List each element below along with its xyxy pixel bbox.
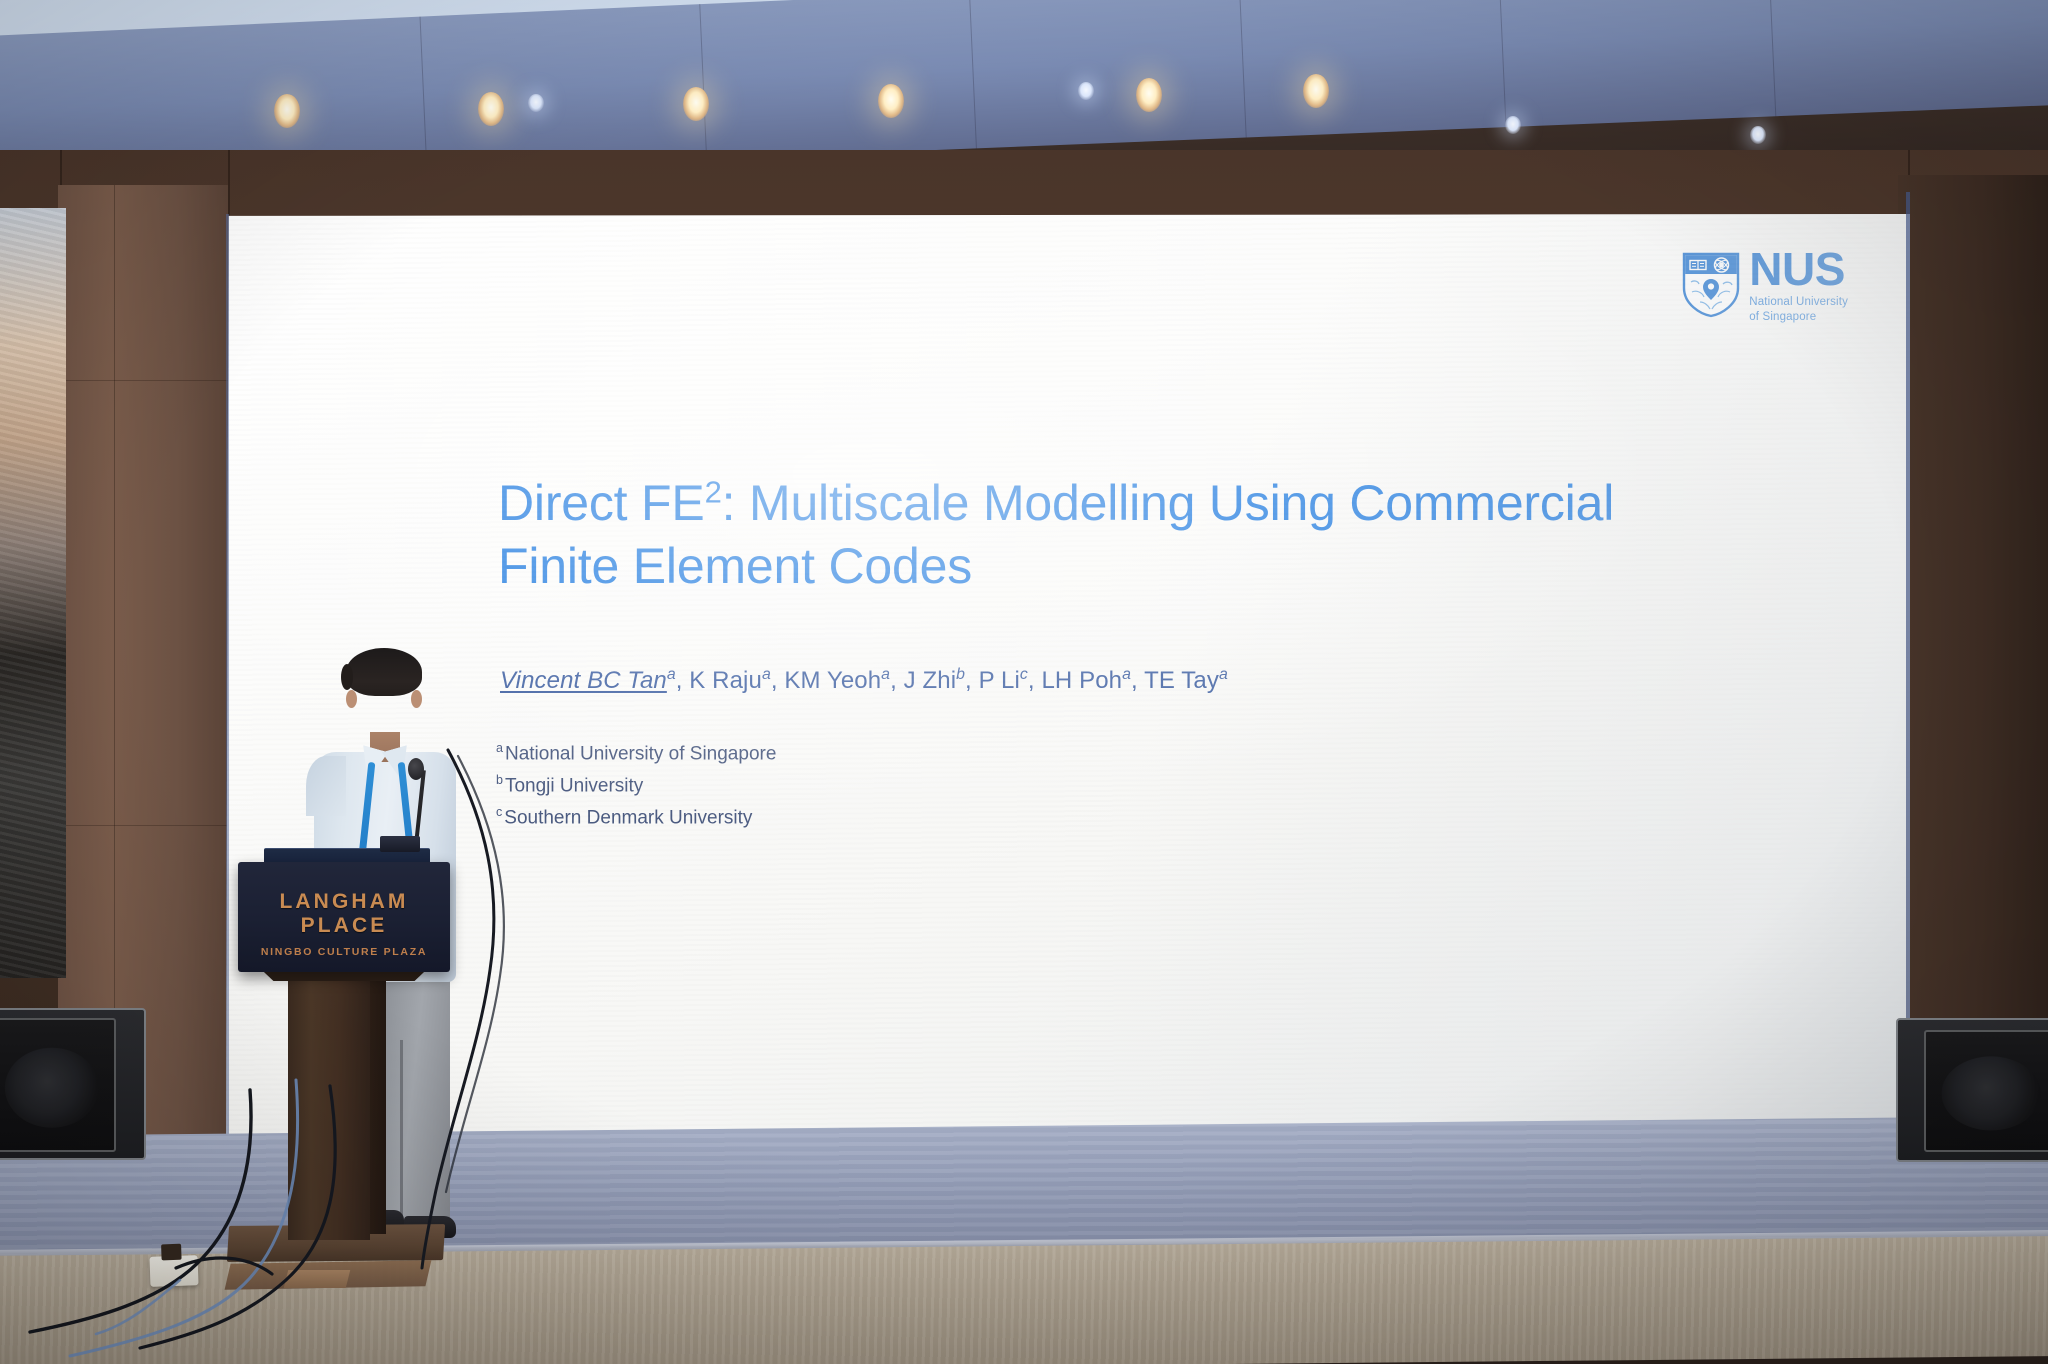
ceiling-downlight — [1078, 82, 1094, 100]
podium-cable-right — [400, 750, 660, 1270]
author-affiliation-marker: b — [956, 666, 965, 683]
ceiling-downlight — [683, 87, 709, 121]
left-wall-artwork — [0, 208, 66, 978]
nus-wordmark-text: NUS — [1749, 246, 1848, 292]
author-lead: Vincent BC Tan — [500, 667, 667, 694]
slide-author-list: Vincent BC Tana, K Rajua, KM Yeoha, J Zh… — [500, 666, 1228, 695]
presenter-hair — [346, 648, 422, 696]
ceiling-downlight — [1136, 78, 1162, 112]
ceiling-downlight — [528, 94, 544, 112]
slide-title-line1-prefix: Direct FE — [498, 475, 705, 531]
author-affiliation-marker: a — [762, 666, 771, 683]
screen-left-edge — [226, 214, 229, 1144]
nus-logo: NUS National University of Singapore — [1682, 246, 1848, 324]
author-lead-sup: a — [667, 666, 676, 683]
author-affiliation-marker: a — [1122, 666, 1131, 683]
ceiling-downlight — [478, 92, 504, 126]
slide-title-superscript: 2 — [705, 474, 722, 509]
author-affiliation-marker: c — [1020, 666, 1028, 683]
presentation-scene-photo: NUS National University of Singapore Dir… — [0, 0, 2048, 1364]
speaker-cone — [1942, 1057, 2041, 1130]
author-affiliation-marker: a — [1219, 666, 1228, 683]
nus-tagline-line2: of Singapore — [1749, 311, 1816, 323]
nus-wordmark: NUS National University of Singapore — [1749, 246, 1848, 324]
screen-right-edge — [1906, 192, 1910, 1146]
pa-speaker-cabinet-right — [1924, 1030, 2048, 1152]
nus-crest-icon — [1682, 252, 1740, 318]
nus-tagline-line1: National University — [1749, 296, 1848, 308]
ceiling-downlight — [878, 84, 904, 118]
slide-title-line2: Finite Element Codes — [498, 538, 972, 594]
nus-tagline: National University of Singapore — [1749, 295, 1848, 324]
author-rest: , K Rajua, KM Yeoha, J Zhib, P Lic, LH P… — [676, 667, 1228, 694]
right-wall-pillar — [1898, 175, 2048, 1165]
ceiling-downlight — [1505, 116, 1521, 134]
slide-title-line1-suffix: : Multiscale Modelling Using Commercial — [722, 475, 1615, 531]
ceiling-downlight — [1303, 74, 1329, 108]
slide-title: Direct FE2: Multiscale Modelling Using C… — [498, 472, 1618, 598]
ceiling-downlight — [1750, 126, 1766, 144]
author-affiliation-marker: a — [881, 666, 890, 683]
ceiling-downlight — [274, 94, 300, 128]
